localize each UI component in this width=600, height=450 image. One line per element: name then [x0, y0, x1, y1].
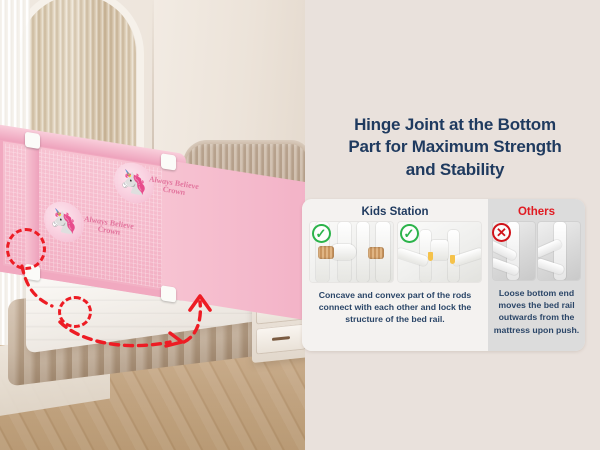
title-line-3: and Stability [315, 159, 595, 181]
hinge-joint [161, 153, 176, 170]
kids-station-caption: Concave and convex part of the rods conn… [302, 289, 488, 326]
cross-icon: ✕ [492, 223, 511, 242]
annotation-loop-circle [58, 296, 92, 328]
page-title: Hinge Joint at the Bottom Part for Maxim… [315, 114, 595, 181]
kids-station-images: ✓ ✓ [302, 222, 488, 282]
joint-closeup-image-1: ✓ [310, 222, 393, 282]
unicorn-graphic: 🦄 [44, 199, 84, 245]
loose-joint-image-2 [538, 222, 580, 280]
hinge-joint-bottom [161, 285, 176, 302]
unicorn-icon: 🦄 [44, 199, 84, 245]
others-heading: Others [488, 199, 585, 218]
kids-station-heading: Kids Station [302, 199, 488, 218]
product-photo: 🦄 🦄 Always Believe Crown Always Believe … [0, 0, 305, 450]
right-content: Hinge Joint at the Bottom Part for Maxim… [305, 0, 600, 450]
hinge-joint [25, 132, 40, 149]
annotation-highlight-circle [6, 228, 46, 270]
nightstand-drawer [256, 323, 305, 354]
others-caption: Loose bottom end moves the bed rail outw… [488, 287, 585, 336]
infographic-canvas: 🦄 🦄 Always Believe Crown Always Believe … [0, 0, 600, 450]
check-icon: ✓ [400, 224, 419, 243]
check-icon: ✓ [312, 224, 331, 243]
comparison-column-others: Others ✕ Loose bottom end moves the bed [488, 199, 585, 351]
title-line-2: Part for Maximum Strength [315, 136, 595, 158]
others-images: ✕ [488, 222, 585, 280]
pink-bed-rail: 🦄 🦄 Always Believe Crown Always Believe … [0, 133, 184, 301]
comparison-panel: Kids Station ✓ [302, 199, 585, 351]
comparison-column-kids-station: Kids Station ✓ [302, 199, 488, 351]
title-line-1: Hinge Joint at the Bottom [315, 114, 595, 136]
joint-closeup-image-2: ✓ [398, 222, 481, 282]
